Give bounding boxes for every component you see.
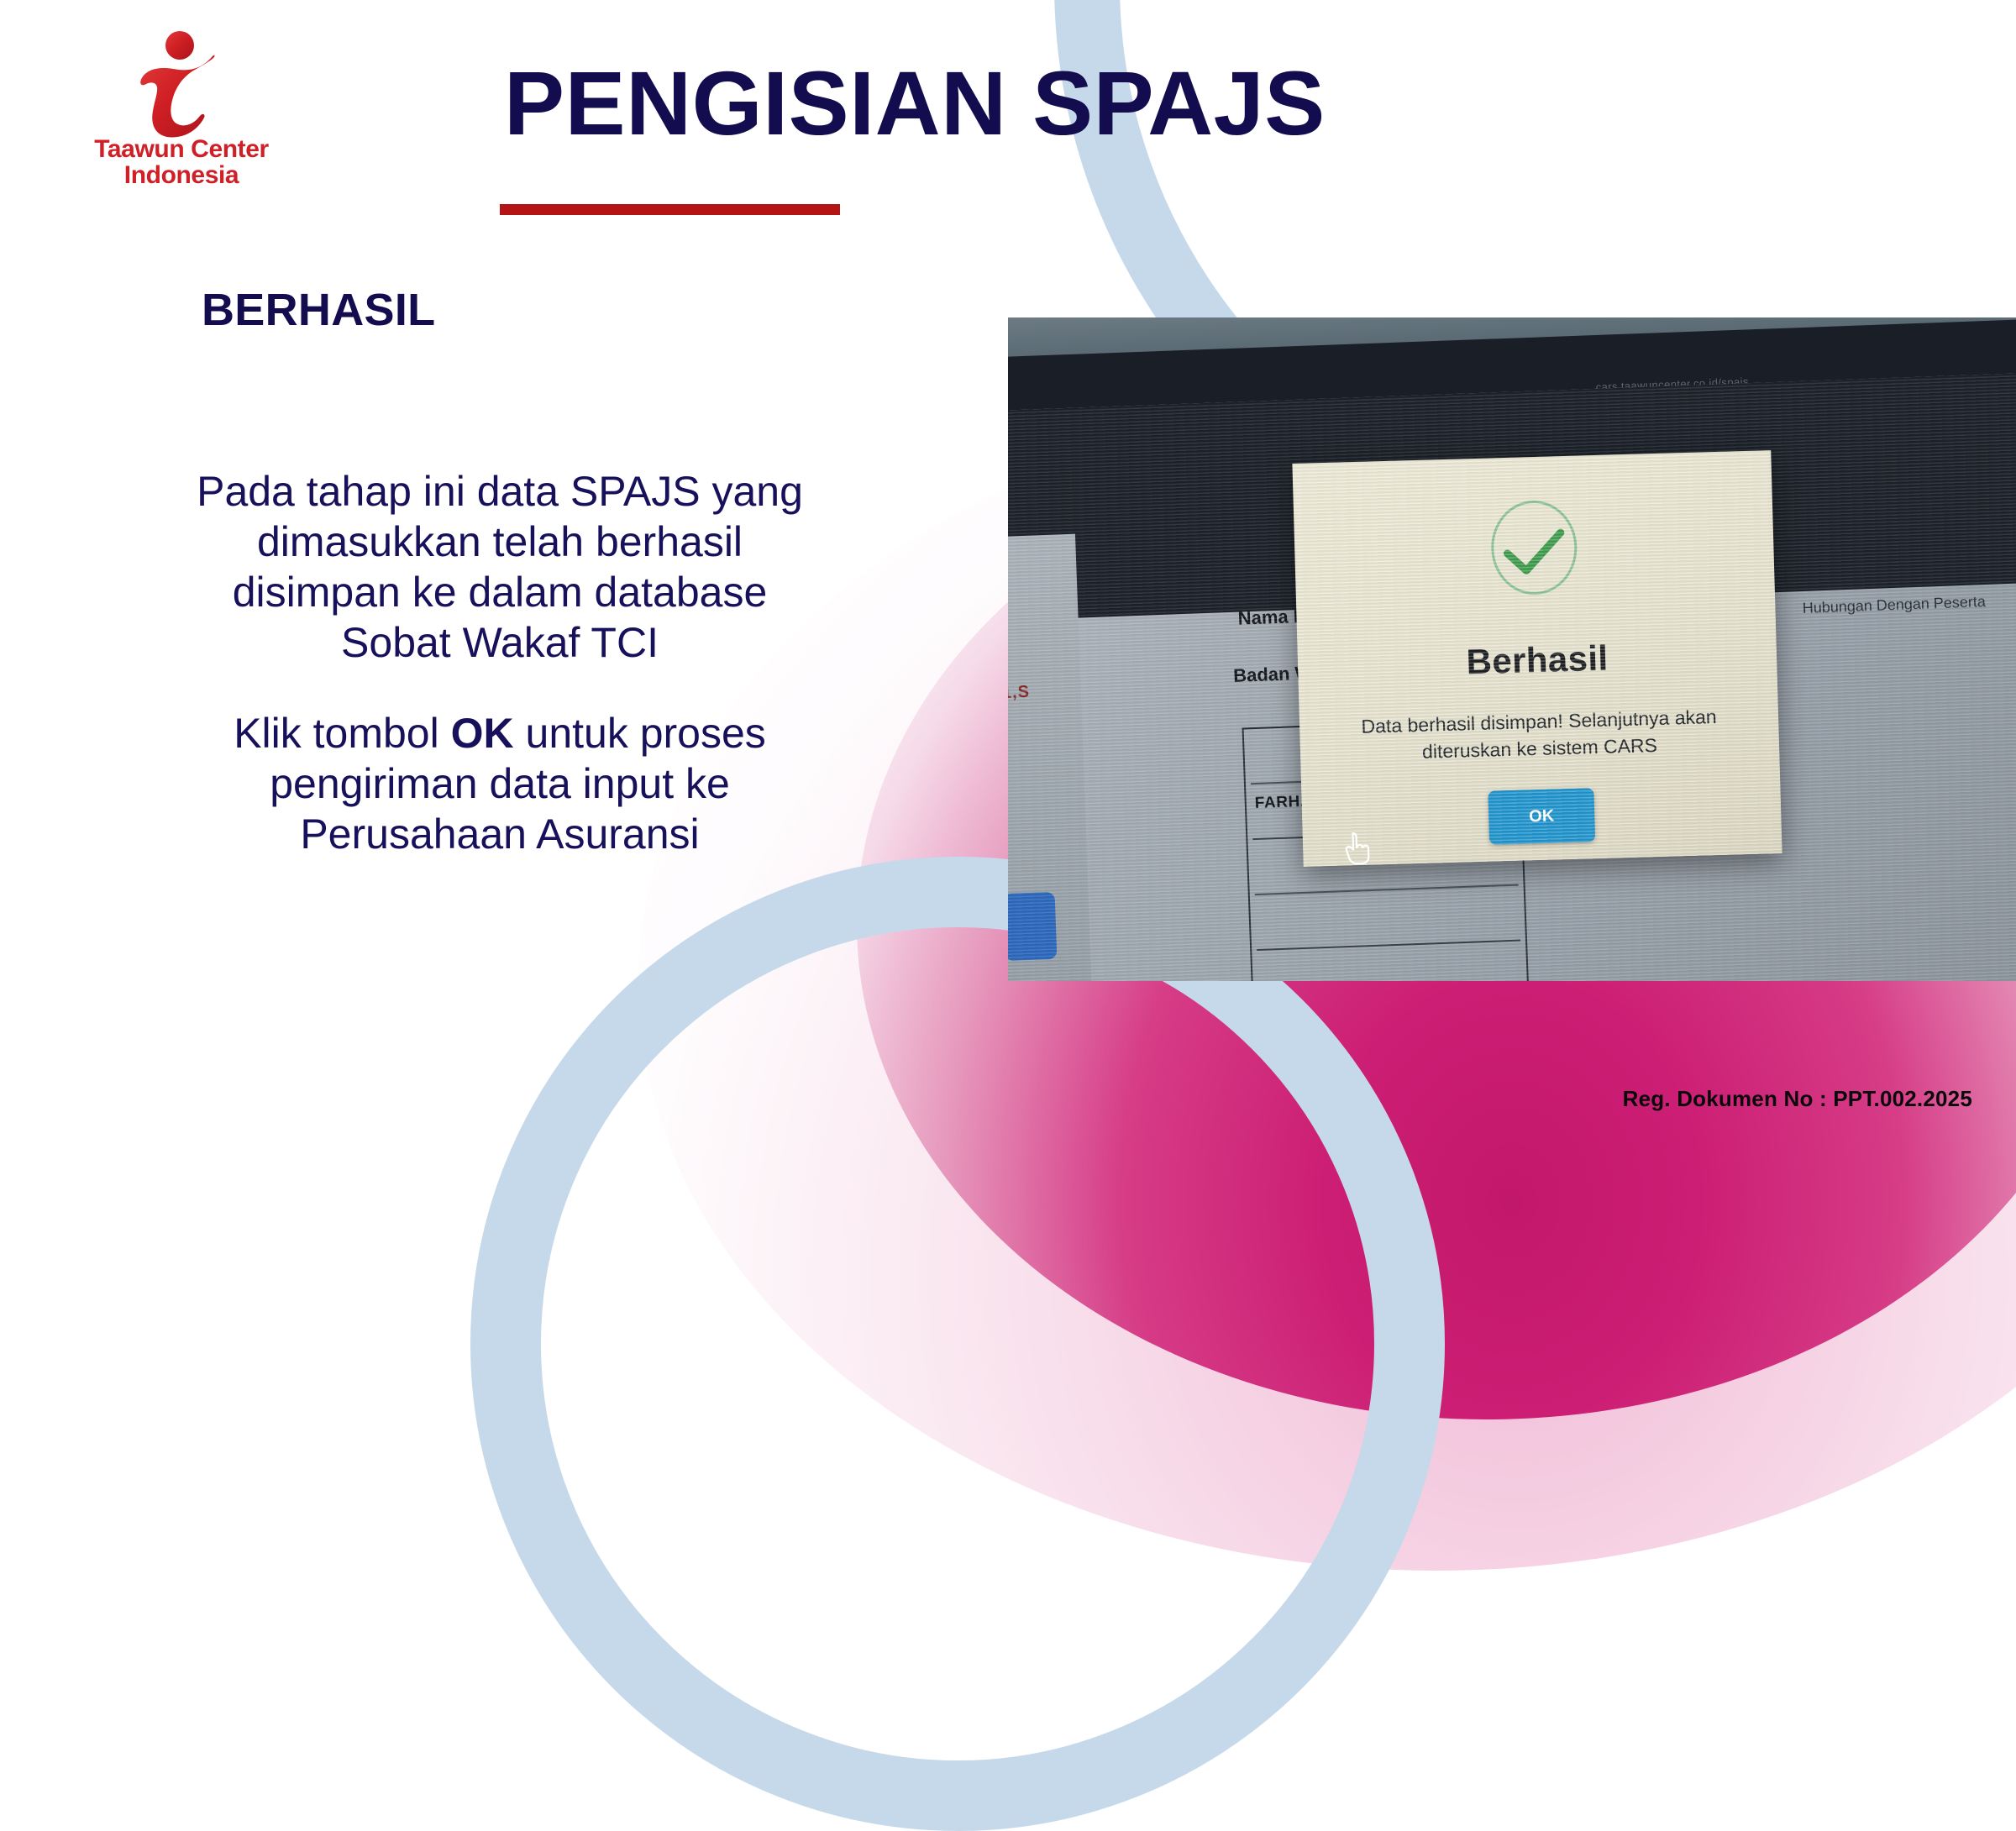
paragraph1-line3: disimpan ke dalam database <box>76 567 924 617</box>
brand-name: Taawun Center Indonesia <box>55 136 307 188</box>
section-subheading: BERHASIL <box>202 284 435 336</box>
sidebar-blue-button[interactable] <box>1008 892 1057 961</box>
check-mark-icon <box>1502 528 1567 577</box>
paragraph1-line4: Sobat Wakaf TCI <box>76 617 924 668</box>
title-underline-rule <box>500 204 840 215</box>
paragraph1-line2: dimasukkan telah berhasil <box>76 517 924 567</box>
form-sidebar <box>1008 534 1095 981</box>
body-text: Pada tahap ini data SPAJS yang dimasukka… <box>76 466 924 859</box>
brand-name-line1: Taawun Center <box>55 136 307 162</box>
page-title: PENGISIAN SPAJS <box>504 50 1445 155</box>
paragraph2-line3: Perusahaan Asuransi <box>76 809 924 859</box>
paragraph2-ok-emphasis: OK <box>451 710 514 757</box>
paragraph2-line2: pengiriman data input ke <box>76 758 924 809</box>
green-check-circle-icon <box>1490 500 1578 596</box>
brand-name-line2: Indonesia <box>55 162 307 188</box>
paragraph2-after: untuk proses <box>514 710 766 757</box>
dialog-message-line1: Data berhasil disimpan! Selanjutnya akan <box>1325 703 1754 742</box>
dialog-message: Data berhasil disimpan! Selanjutnya akan… <box>1325 703 1755 769</box>
grid-icon: ▩ <box>1008 495 1010 520</box>
paragraph2-before: Klik tombol <box>234 710 450 757</box>
screenshot-photo: cars.taawuncenter.co.id/spajs SW17200 ▩ … <box>1008 317 2016 981</box>
paragraph1-line1: Pada tahap ini data SPAJS yang <box>76 466 924 517</box>
dialog-ok-button[interactable]: OK <box>1488 788 1595 844</box>
dialog-message-line2: diteruskan ke sistem CARS <box>1326 730 1755 769</box>
success-dialog: Berhasil Data berhasil disimpan! Selanju… <box>1292 450 1782 867</box>
sidebar-code-text: 71,S <box>1008 683 1030 704</box>
brand-logo: Taawun Center Indonesia <box>55 24 307 188</box>
form-label-relation: Hubungan Dengan Peserta <box>1802 593 1986 617</box>
document-reg-number: Reg. Dokumen No : PPT.002.2025 <box>1623 1086 1972 1112</box>
pointer-hand-cursor-icon <box>1342 830 1372 868</box>
paragraph2-line1: Klik tombol OK untuk proses <box>76 708 924 758</box>
dialog-title: Berhasil <box>1297 633 1777 687</box>
photo-inner: cars.taawuncenter.co.id/spajs SW17200 ▩ … <box>1008 317 2016 981</box>
taawun-person-t-logo-icon <box>55 24 307 139</box>
dialog-inner: Berhasil Data berhasil disimpan! Selanju… <box>1292 450 1782 867</box>
paragraph-spacer <box>76 668 924 708</box>
decor-arc-bottom <box>470 857 1445 1831</box>
